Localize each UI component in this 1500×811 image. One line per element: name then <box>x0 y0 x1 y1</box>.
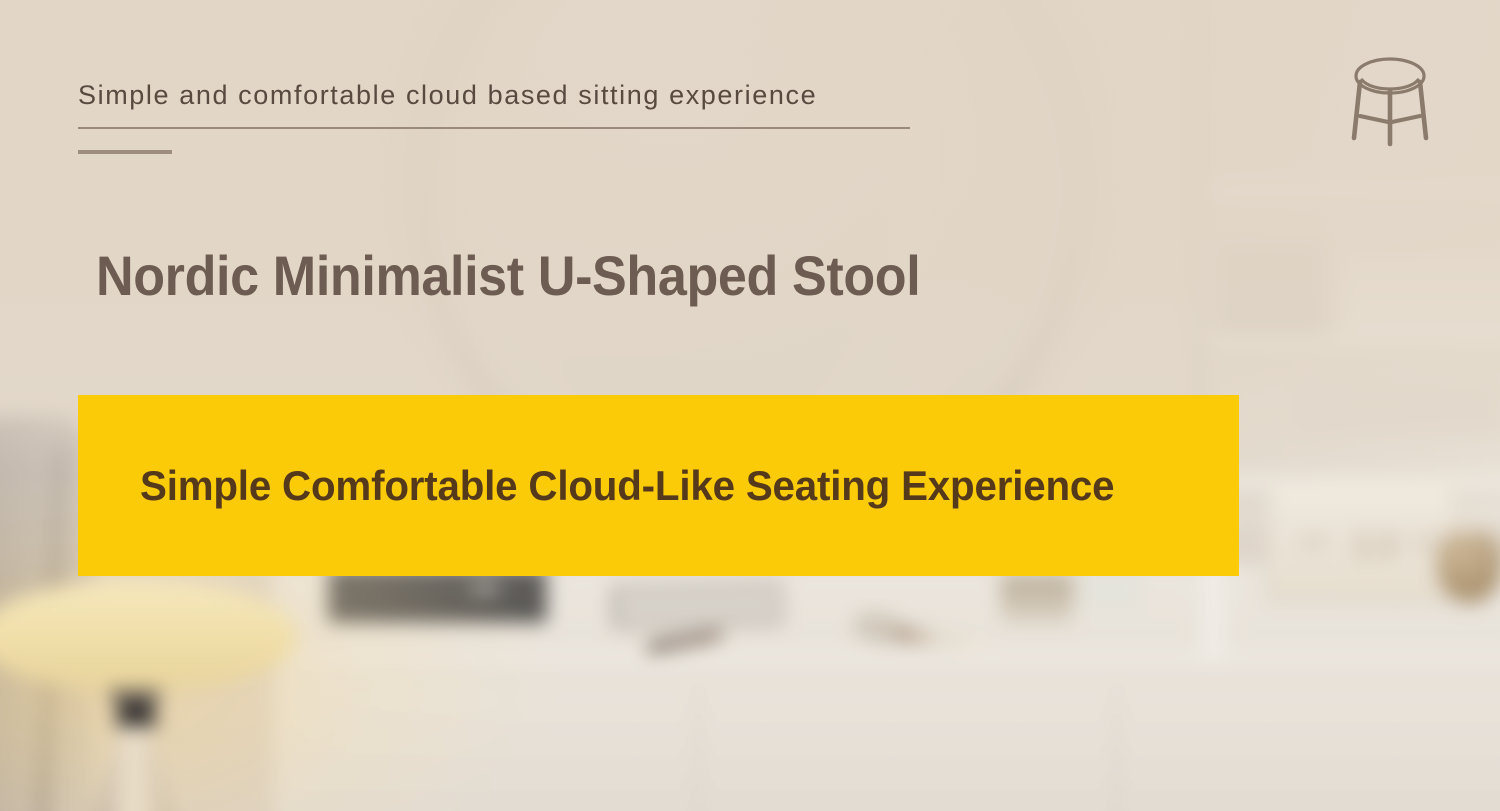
divider-rule-short <box>78 150 172 154</box>
banner-content: Simple and comfortable cloud based sitti… <box>0 0 1500 811</box>
callout-banner: Simple Comfortable Cloud-Like Seating Ex… <box>78 395 1239 576</box>
divider-rule-long <box>78 127 910 129</box>
callout-banner-text: Simple Comfortable Cloud-Like Seating Ex… <box>140 395 1114 576</box>
eyebrow-tagline: Simple and comfortable cloud based sitti… <box>78 80 817 111</box>
product-title: Nordic Minimalist U-Shaped Stool <box>96 243 920 308</box>
stool-icon <box>1338 50 1442 150</box>
banner-ad-canvas: LV LV LV Simple and comfortable cloud ba… <box>0 0 1500 811</box>
